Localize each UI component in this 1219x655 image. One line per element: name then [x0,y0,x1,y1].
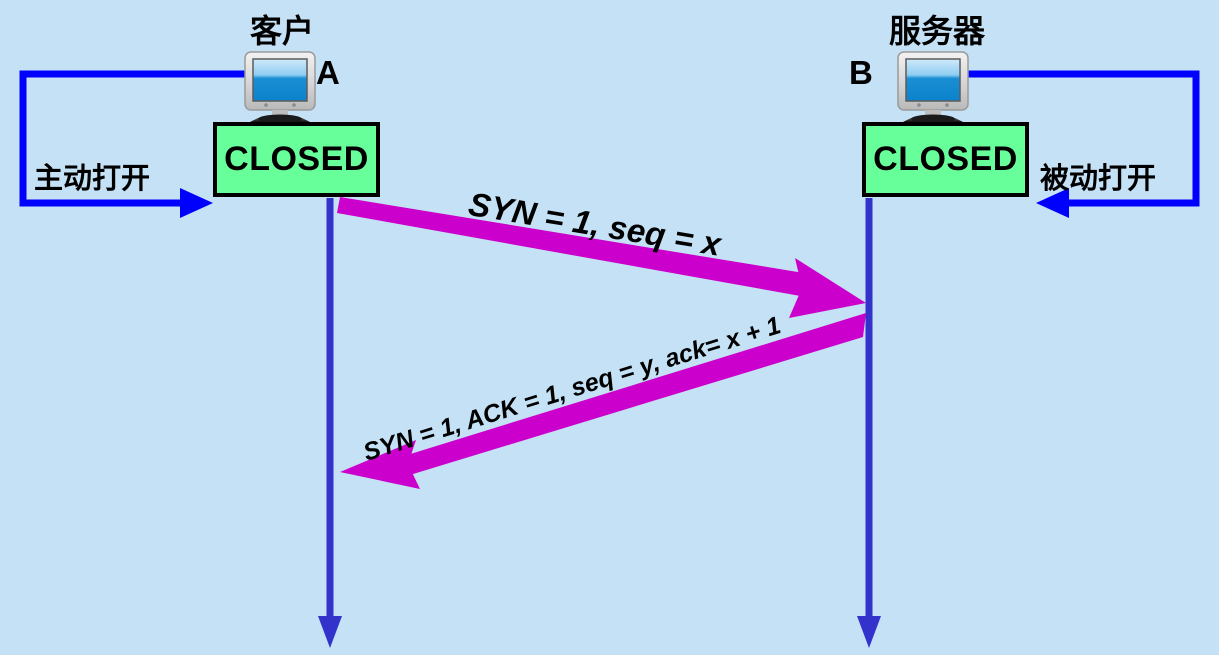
server-state-label: CLOSED [873,140,1018,179]
client-state-label: CLOSED [224,140,369,179]
client-monitor-icon [245,52,315,124]
server-state-box: CLOSED [862,122,1029,197]
segment-arrow-syn-ack [340,313,866,489]
server-monitor-icon [898,52,968,124]
passive-open-label: 被动打开 [1040,155,1156,197]
client-state-box: CLOSED [213,122,380,197]
tcp-handshake-diagram: 客户 服务器 A B CLOSED CLOSED 主动打开 被动打开 SYN =… [0,0,1219,655]
server-endpoint-letter: B [849,54,873,92]
diagram-vector-layer [0,0,1219,655]
active-open-label: 主动打开 [34,155,150,197]
client-title: 客户 [250,6,314,52]
client-endpoint-letter: A [316,54,340,92]
server-lifeline [857,198,881,648]
client-lifeline [318,198,342,648]
server-title: 服务器 [889,6,985,52]
